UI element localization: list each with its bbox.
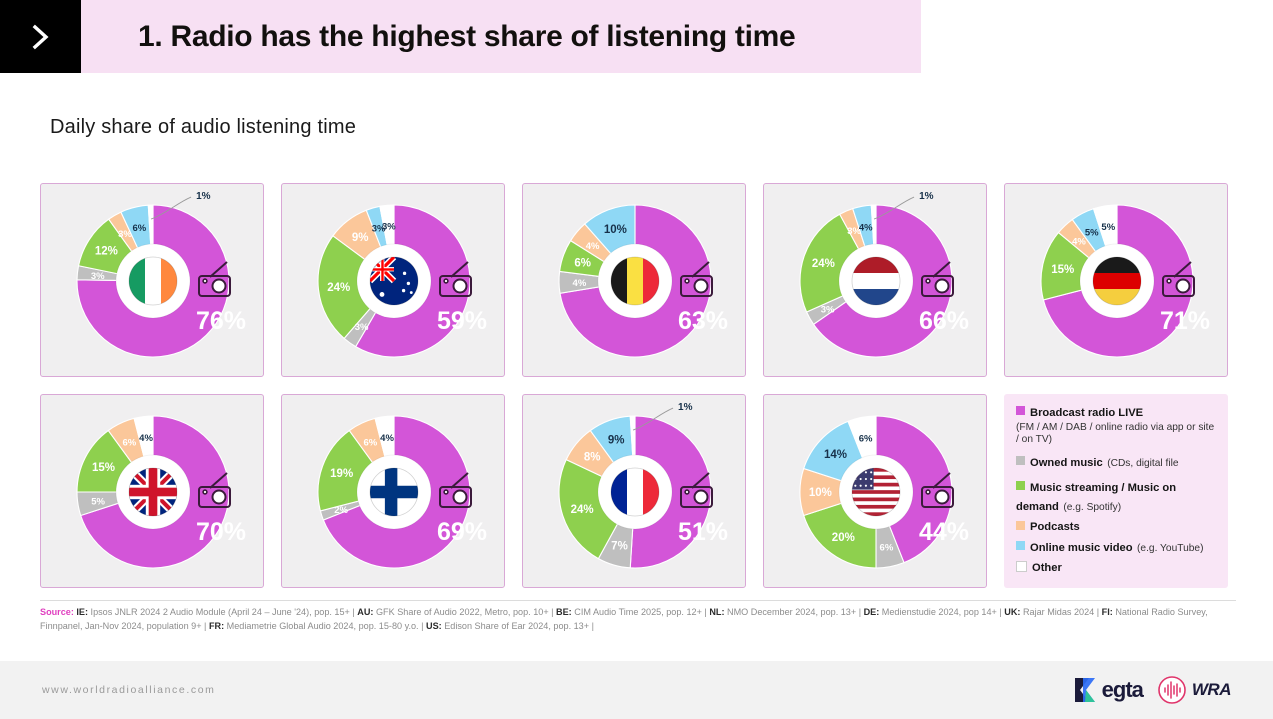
slice-label: 3% — [118, 229, 132, 240]
main-percentage: 76% — [196, 307, 246, 335]
section-subtitle: Daily share of audio listening time — [50, 116, 356, 139]
callout-label: 1% — [919, 191, 934, 202]
slice-label: 8% — [584, 452, 601, 464]
slice-label: 19% — [330, 468, 353, 480]
legend-swatch-icon — [1016, 456, 1025, 465]
slice-label: 4% — [573, 278, 587, 289]
slice-label: 24% — [812, 258, 835, 270]
donut-card-fr: 7%24%8%9%1%51% — [522, 394, 746, 588]
slide-header: 1. Radio has the highest share of listen… — [0, 0, 921, 73]
slice-label: 12% — [95, 246, 118, 258]
donut-chart-be: 4%6%4%10%63% — [523, 184, 747, 378]
legend-item: Broadcast radio LIVE(FM / AM / DAB / onl… — [1016, 403, 1218, 446]
donut-chart-fr: 7%24%8%9%1%51% — [523, 395, 747, 589]
slice-label: 5% — [91, 497, 105, 508]
slice-label: 6% — [132, 223, 146, 234]
chart-legend: Broadcast radio LIVE(FM / AM / DAB / onl… — [1004, 394, 1228, 588]
egta-mark-icon — [1073, 675, 1099, 705]
slice-label: 6% — [859, 433, 873, 444]
legend-item: Owned music (CDs, digital file — [1016, 453, 1218, 472]
source-code: FI: — [1102, 607, 1113, 617]
slice-label: 15% — [92, 462, 115, 474]
charts-grid: 3%12%3%6%1%76% — [40, 183, 1240, 605]
legend-label: Other — [1032, 562, 1062, 574]
legend-item: Other — [1016, 558, 1218, 577]
source-text: NMO December 2024, pop. 13+ — [727, 607, 856, 617]
main-percentage: 63% — [678, 307, 728, 335]
slice-label: 4% — [139, 433, 153, 444]
slice-label: 2% — [334, 505, 348, 516]
legend-sublabel: (e.g. Spotify) — [1063, 502, 1121, 513]
header-title-band: 1. Radio has the highest share of listen… — [81, 0, 921, 73]
slice-label: 4% — [586, 241, 600, 252]
legend-sublabel: (e.g. YouTube) — [1137, 543, 1203, 554]
source-code: DE: — [864, 607, 880, 617]
legend-label: Owned music — [1030, 457, 1103, 469]
page-title: 1. Radio has the highest share of listen… — [81, 20, 795, 54]
charts-row-2: 5%15%6%4%70% 2%19%6%4%69% — [40, 394, 1240, 588]
slice-label: 9% — [608, 435, 625, 447]
slice-label: 7% — [611, 540, 628, 552]
donut-chart-au: 3%24%9%3%3%59% — [282, 184, 506, 378]
slice-label: 10% — [604, 224, 627, 236]
slice-label: 6% — [574, 257, 591, 269]
legend-label: Online music video — [1030, 542, 1133, 554]
source-code: IE: — [76, 607, 88, 617]
legend-swatch-icon — [1016, 541, 1025, 550]
slice-label: 10% — [809, 487, 832, 499]
wra-logo-text: WRA — [1192, 680, 1231, 700]
donut-chart-us: 6%20%10%14%6%44% — [764, 395, 988, 589]
source-text: Mediametrie Global Audio 2024, pop. 15-8… — [227, 621, 419, 631]
slice-label: 15% — [1051, 264, 1074, 276]
egta-logo-text: egta — [1102, 677, 1143, 703]
donut-card-be: 4%6%4%10%63% — [522, 183, 746, 377]
source-text: Medienstudie 2024, pop 14+ — [882, 607, 997, 617]
source-text: Rajar Midas 2024 — [1023, 607, 1094, 617]
slide-footer: www.worldradioalliance.com egta — [0, 661, 1273, 719]
legend-item: Music streaming / Music on demand (e.g. … — [1016, 478, 1218, 515]
legend-swatch-icon — [1016, 481, 1025, 490]
legend-swatch-icon — [1016, 521, 1025, 530]
chevron-right-icon — [28, 22, 54, 52]
egta-logo: egta — [1073, 675, 1143, 705]
main-percentage: 66% — [919, 307, 969, 335]
slice-label: 3% — [821, 304, 835, 315]
main-percentage: 51% — [678, 518, 728, 546]
slice-label: 4% — [859, 222, 873, 233]
donut-chart-ie: 3%12%3%6%1%76% — [41, 184, 265, 378]
header-arrow-button[interactable] — [0, 0, 81, 73]
legend-item: Podcasts — [1016, 517, 1218, 536]
donut-card-ie: 3%12%3%6%1%76% — [40, 183, 264, 377]
slice-label: 6% — [880, 543, 894, 554]
slice-label: 20% — [832, 532, 855, 544]
callout-label: 1% — [678, 402, 693, 413]
source-text: Ipsos JNLR 2024 2 Audio Module (April 24… — [91, 607, 350, 617]
donut-chart-uk: 5%15%6%4%70% — [41, 395, 265, 589]
source-text: CIM Audio Time 2025, pop. 12+ — [574, 607, 702, 617]
source-label: Source: — [40, 607, 74, 617]
footer-url[interactable]: www.worldradioalliance.com — [42, 684, 216, 696]
donut-chart-nl: 3%24%3%4%1%66% — [764, 184, 988, 378]
legend-label: Broadcast radio LIVE — [1030, 407, 1143, 419]
slice-label: 5% — [1101, 222, 1115, 233]
slice-label: 6% — [363, 438, 377, 449]
slice-label: 3% — [91, 271, 105, 282]
main-percentage: 44% — [919, 518, 969, 546]
source-code: AU: — [357, 607, 373, 617]
footer-logos: egta WRA — [1073, 675, 1231, 705]
donut-card-uk: 5%15%6%4%70% — [40, 394, 264, 588]
slice-label: 24% — [571, 504, 594, 516]
donut-chart-fi: 2%19%6%4%69% — [282, 395, 506, 589]
main-percentage: 69% — [437, 518, 487, 546]
charts-row-1: 3%12%3%6%1%76% — [40, 183, 1240, 377]
slice-label: 3% — [355, 322, 369, 333]
source-code: US: — [426, 621, 442, 631]
main-percentage: 70% — [196, 518, 246, 546]
source-code: BE: — [556, 607, 572, 617]
donut-card-us: 6%20%10%14%6%44% — [763, 394, 987, 588]
slice-label: 6% — [122, 438, 136, 449]
main-percentage: 71% — [1160, 307, 1210, 335]
source-text: Edison Share of Ear 2024, pop. 13+ — [444, 621, 589, 631]
main-percentage: 59% — [437, 307, 487, 335]
slice-label: 3% — [382, 222, 396, 233]
source-code: NL: — [709, 607, 724, 617]
legend-item: Online music video (e.g. YouTube) — [1016, 538, 1218, 557]
source-divider — [40, 600, 1236, 601]
source-code: FR: — [209, 621, 224, 631]
legend-sublabel: (CDs, digital file — [1107, 458, 1178, 469]
wra-mark-icon — [1157, 675, 1187, 705]
slice-label: 4% — [380, 433, 394, 444]
donut-card-nl: 3%24%3%4%1%66% — [763, 183, 987, 377]
legend-swatch-icon — [1016, 406, 1025, 415]
wra-logo: WRA — [1157, 675, 1231, 705]
callout-label: 1% — [196, 191, 211, 202]
donut-card-de: 15%4%5%5%71% — [1004, 183, 1228, 377]
slice-label: 24% — [327, 282, 350, 294]
legend-label: Podcasts — [1030, 521, 1080, 533]
source-note: Source: IE: Ipsos JNLR 2024 2 Audio Modu… — [40, 605, 1235, 633]
slice-label: 14% — [824, 449, 847, 461]
legend-description: (FM / AM / DAB / online radio via app or… — [1016, 422, 1218, 446]
slice-label: 9% — [352, 232, 369, 244]
donut-card-au: 3%24%9%3%3%59% — [281, 183, 505, 377]
donut-card-fi: 2%19%6%4%69% — [281, 394, 505, 588]
source-code: UK: — [1004, 607, 1020, 617]
slice-label: 5% — [1085, 227, 1099, 238]
legend-swatch-icon — [1016, 561, 1027, 572]
source-text: GFK Share of Audio 2022, Metro, pop. 10+ — [376, 607, 549, 617]
donut-chart-de: 15%4%5%5%71% — [1005, 184, 1229, 378]
